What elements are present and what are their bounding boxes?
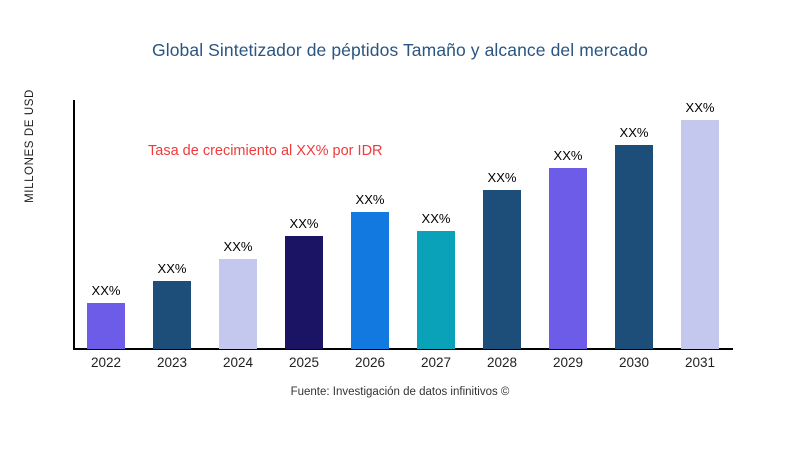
bar-2024[interactable] (219, 259, 257, 349)
bar-2026[interactable] (351, 212, 389, 349)
x-tick-label-2029: 2029 (535, 355, 601, 370)
bar-value-label-2023: XX% (139, 261, 205, 276)
bar-group: XX% (667, 99, 733, 349)
source-note: Fuente: Investigación de datos infinitiv… (0, 386, 800, 398)
x-tick-label-2030: 2030 (601, 355, 667, 370)
bar-value-label-2022: XX% (73, 283, 139, 298)
x-tick-label-2025: 2025 (271, 355, 337, 370)
bar-2023[interactable] (153, 281, 191, 349)
x-tick-label-2027: 2027 (403, 355, 469, 370)
bar-2029[interactable] (549, 168, 587, 349)
x-tick-label-2023: 2023 (139, 355, 205, 370)
bar-group: XX% (403, 99, 469, 349)
bar-2031[interactable] (681, 120, 719, 349)
bar-value-label-2030: XX% (601, 125, 667, 140)
bar-value-label-2027: XX% (403, 211, 469, 226)
bar-2028[interactable] (483, 190, 521, 349)
x-tick-label-2026: 2026 (337, 355, 403, 370)
bar-2030[interactable] (615, 145, 653, 349)
bar-2027[interactable] (417, 231, 455, 349)
bar-group: XX% (601, 99, 667, 349)
bar-value-label-2025: XX% (271, 216, 337, 231)
bar-group: XX% (139, 99, 205, 349)
plot-area: XX%2022XX%2023XX%2024XX%2025XX%2026XX%20… (0, 0, 800, 450)
x-tick-label-2022: 2022 (73, 355, 139, 370)
bar-value-label-2031: XX% (667, 100, 733, 115)
bar-2022[interactable] (87, 303, 125, 349)
bar-value-label-2026: XX% (337, 192, 403, 207)
bar-group: XX% (337, 99, 403, 349)
bar-value-label-2028: XX% (469, 170, 535, 185)
bar-value-label-2029: XX% (535, 148, 601, 163)
bar-group: XX% (469, 99, 535, 349)
bar-value-label-2024: XX% (205, 239, 271, 254)
bar-group: XX% (535, 99, 601, 349)
bar-group: XX% (271, 99, 337, 349)
bar-group: XX% (205, 99, 271, 349)
x-tick-label-2028: 2028 (469, 355, 535, 370)
chart-container: Global Sintetizador de péptidos Tamaño y… (0, 0, 800, 450)
bar-group: XX% (73, 99, 139, 349)
x-tick-label-2031: 2031 (667, 355, 733, 370)
x-tick-label-2024: 2024 (205, 355, 271, 370)
bar-2025[interactable] (285, 236, 323, 349)
